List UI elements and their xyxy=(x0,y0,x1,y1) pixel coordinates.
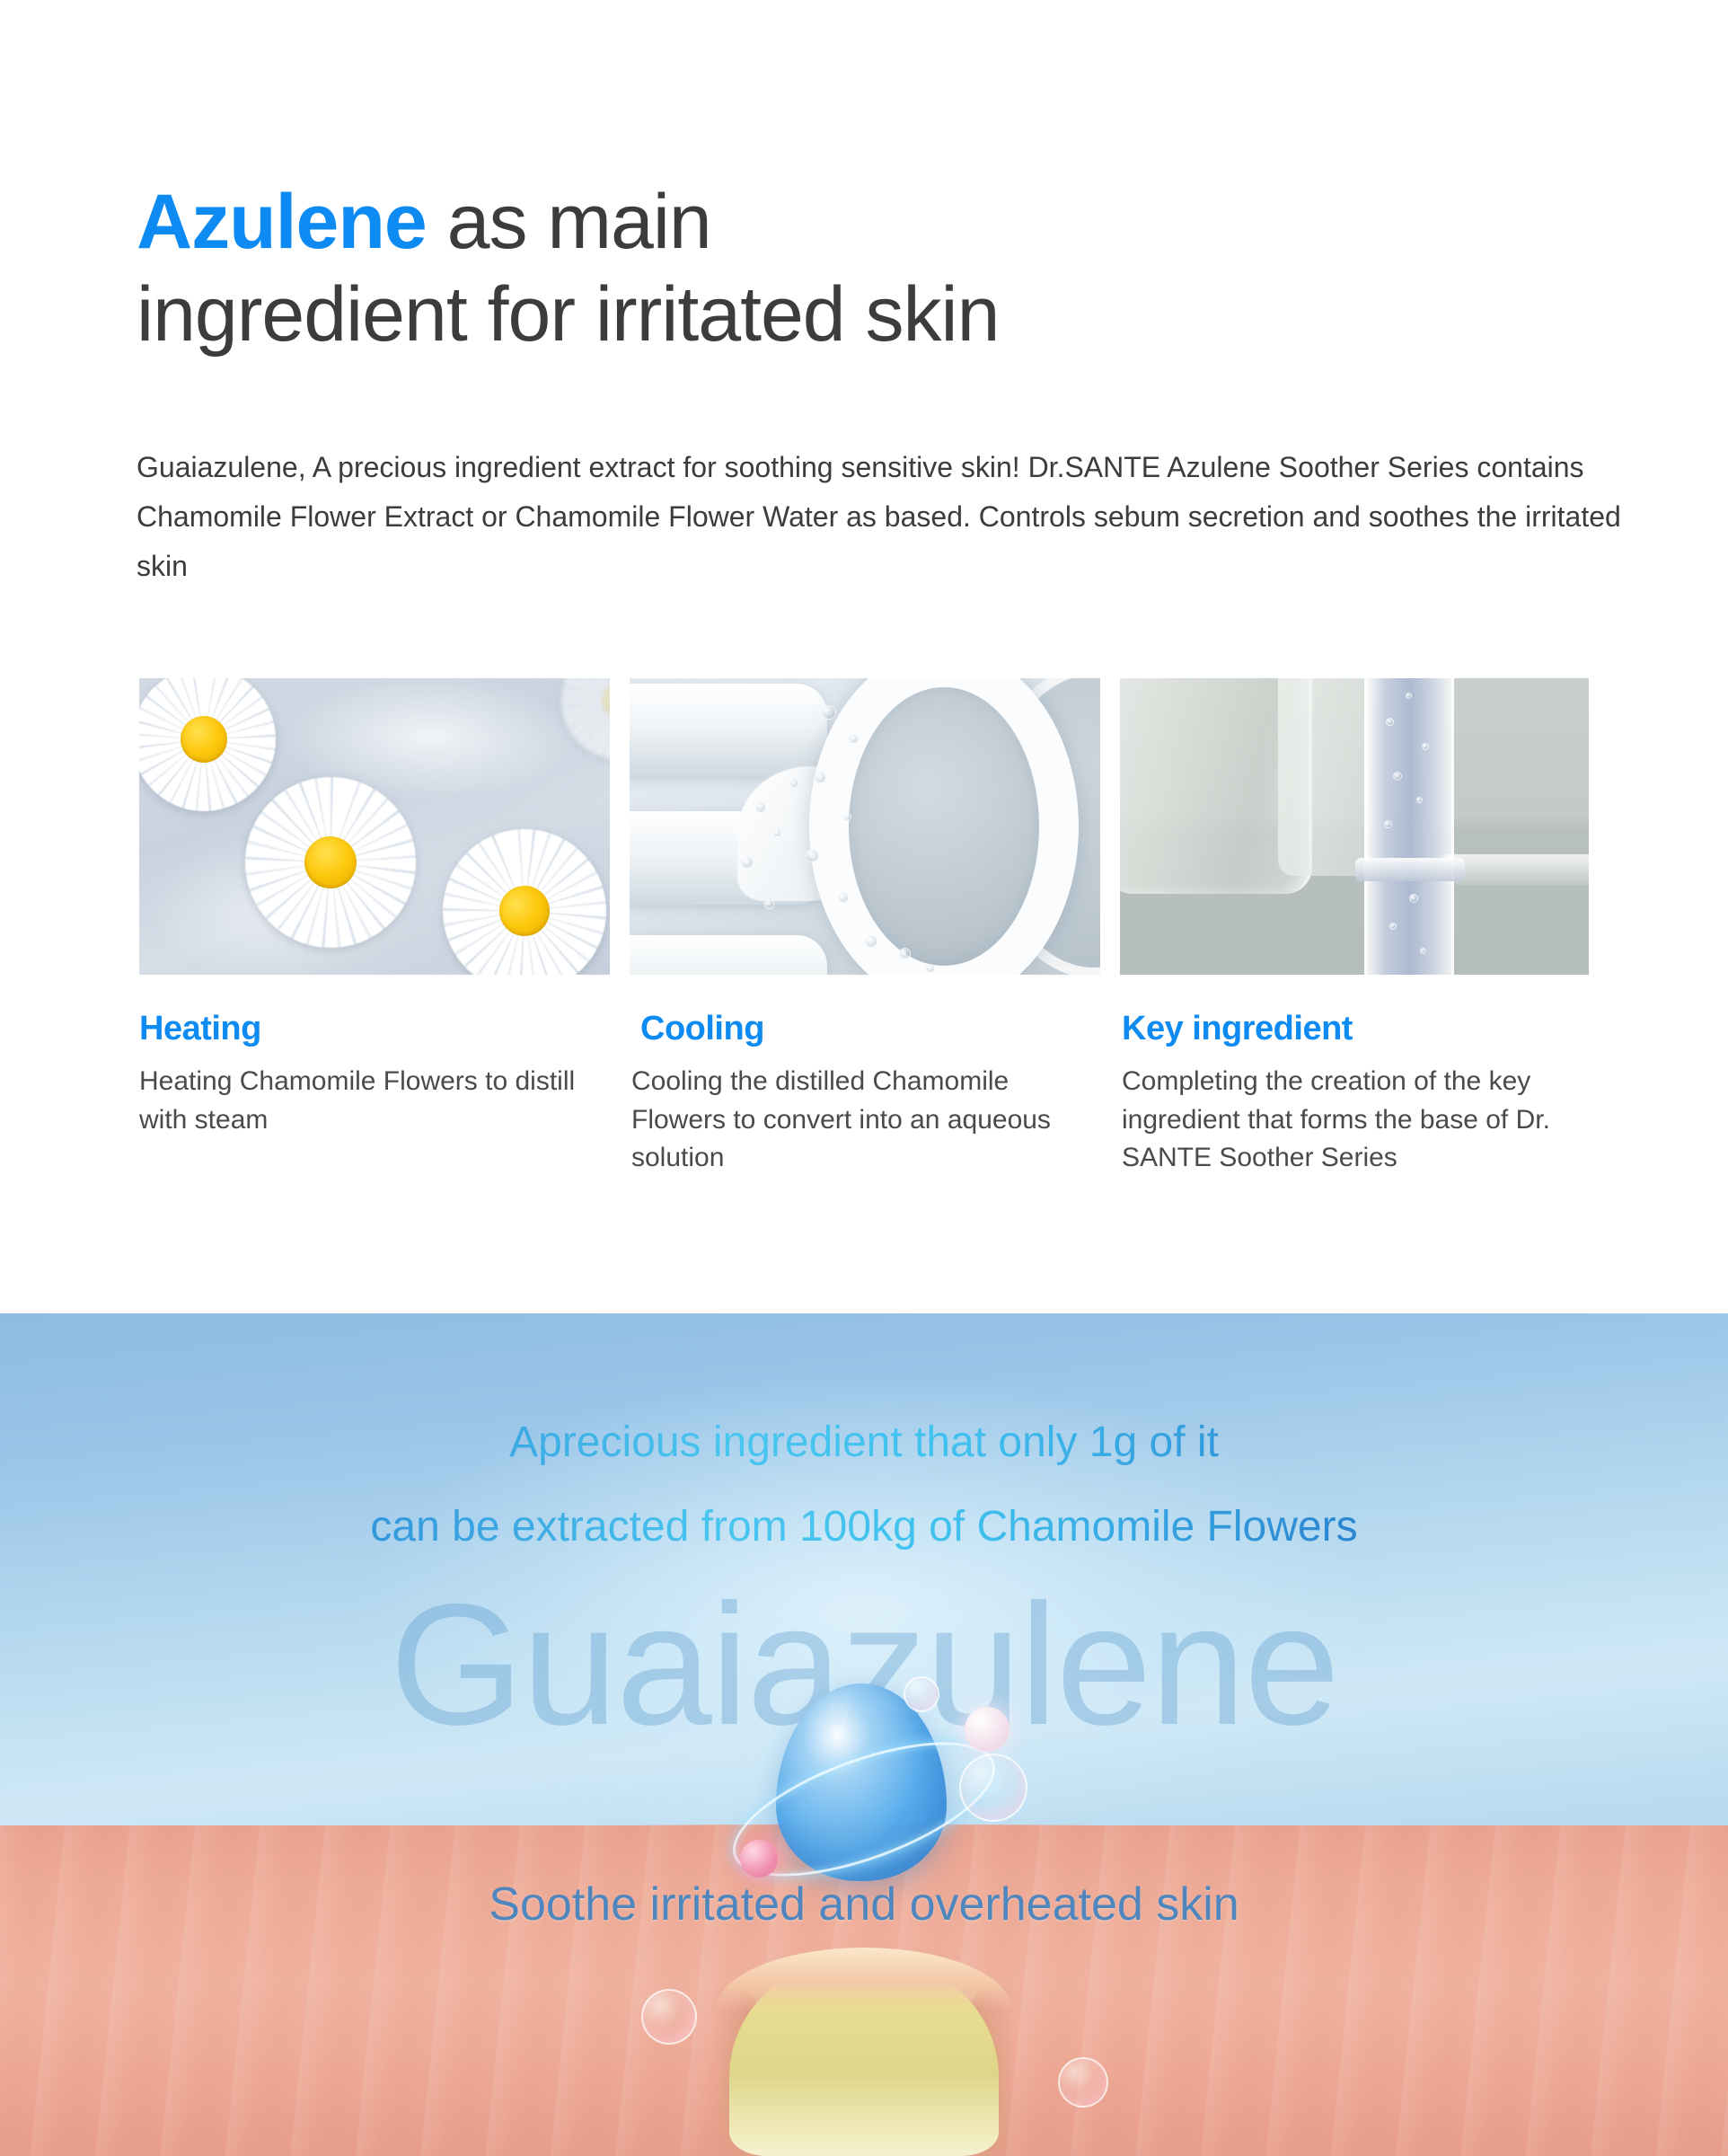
step-description: Completing the creation of the key ingre… xyxy=(1122,1063,1598,1178)
step-description: Heating Chamomile Flowers to distill wit… xyxy=(139,1063,615,1139)
daisy-flower xyxy=(561,678,610,759)
step-description: Cooling the distilled Chamomile Flowers … xyxy=(631,1063,1107,1178)
step-caption-key-ingredient: Key ingredient Completing the creation o… xyxy=(1122,1010,1598,1178)
intro-paragraph: Guaiazulene, A precious ingredient extra… xyxy=(137,443,1645,591)
bubble-icon xyxy=(641,1989,697,2045)
daisy-flower xyxy=(426,812,610,975)
step-caption-heating: Heating Heating Chamomile Flowers to dis… xyxy=(139,1010,615,1139)
top-content-section: Azulene as main ingredient for irritated… xyxy=(0,0,1728,1313)
daisy-flower xyxy=(232,764,429,961)
step-title: Cooling xyxy=(631,1010,1107,1048)
cooling-glass-tubes-photo xyxy=(630,678,1100,975)
headline-accent-word: Azulene xyxy=(137,179,427,265)
step-title: Key ingredient xyxy=(1122,1010,1598,1048)
process-image-panels xyxy=(139,678,1590,975)
bubble-icon xyxy=(959,1754,1027,1822)
headline-rest: as main xyxy=(427,179,711,265)
step-title: Heating xyxy=(139,1010,615,1048)
skin-pore-cross-section xyxy=(707,1951,1021,2156)
hero-line-one: Aprecious ingredient that only 1g of it xyxy=(0,1418,1728,1467)
process-step-captions: Heating Heating Chamomile Flowers to dis… xyxy=(139,1010,1630,1216)
hero-line-two: can be extracted from 100kg of Chamomile… xyxy=(0,1502,1728,1551)
step-image-key-ingredient xyxy=(1120,678,1589,975)
step-image-heating xyxy=(139,678,610,975)
laboratory-glassware-photo xyxy=(1120,678,1589,975)
daisy-flower xyxy=(139,678,276,811)
orbit-particle-pink xyxy=(740,1840,778,1878)
hero-bottom-tagline: Soothe irritated and overheated skin xyxy=(0,1878,1728,1931)
page-headline: Azulene as main ingredient for irritated… xyxy=(137,176,1574,361)
step-image-cooling xyxy=(630,678,1100,975)
chamomile-flowers-photo xyxy=(139,678,610,975)
headline-line-two: ingredient for irritated skin xyxy=(137,271,999,358)
orbit-particle-white xyxy=(965,1707,1009,1752)
step-caption-cooling: Cooling Cooling the distilled Chamomile … xyxy=(631,1010,1107,1178)
bubble-icon xyxy=(1058,2057,1108,2107)
bubble-icon xyxy=(904,1676,939,1712)
